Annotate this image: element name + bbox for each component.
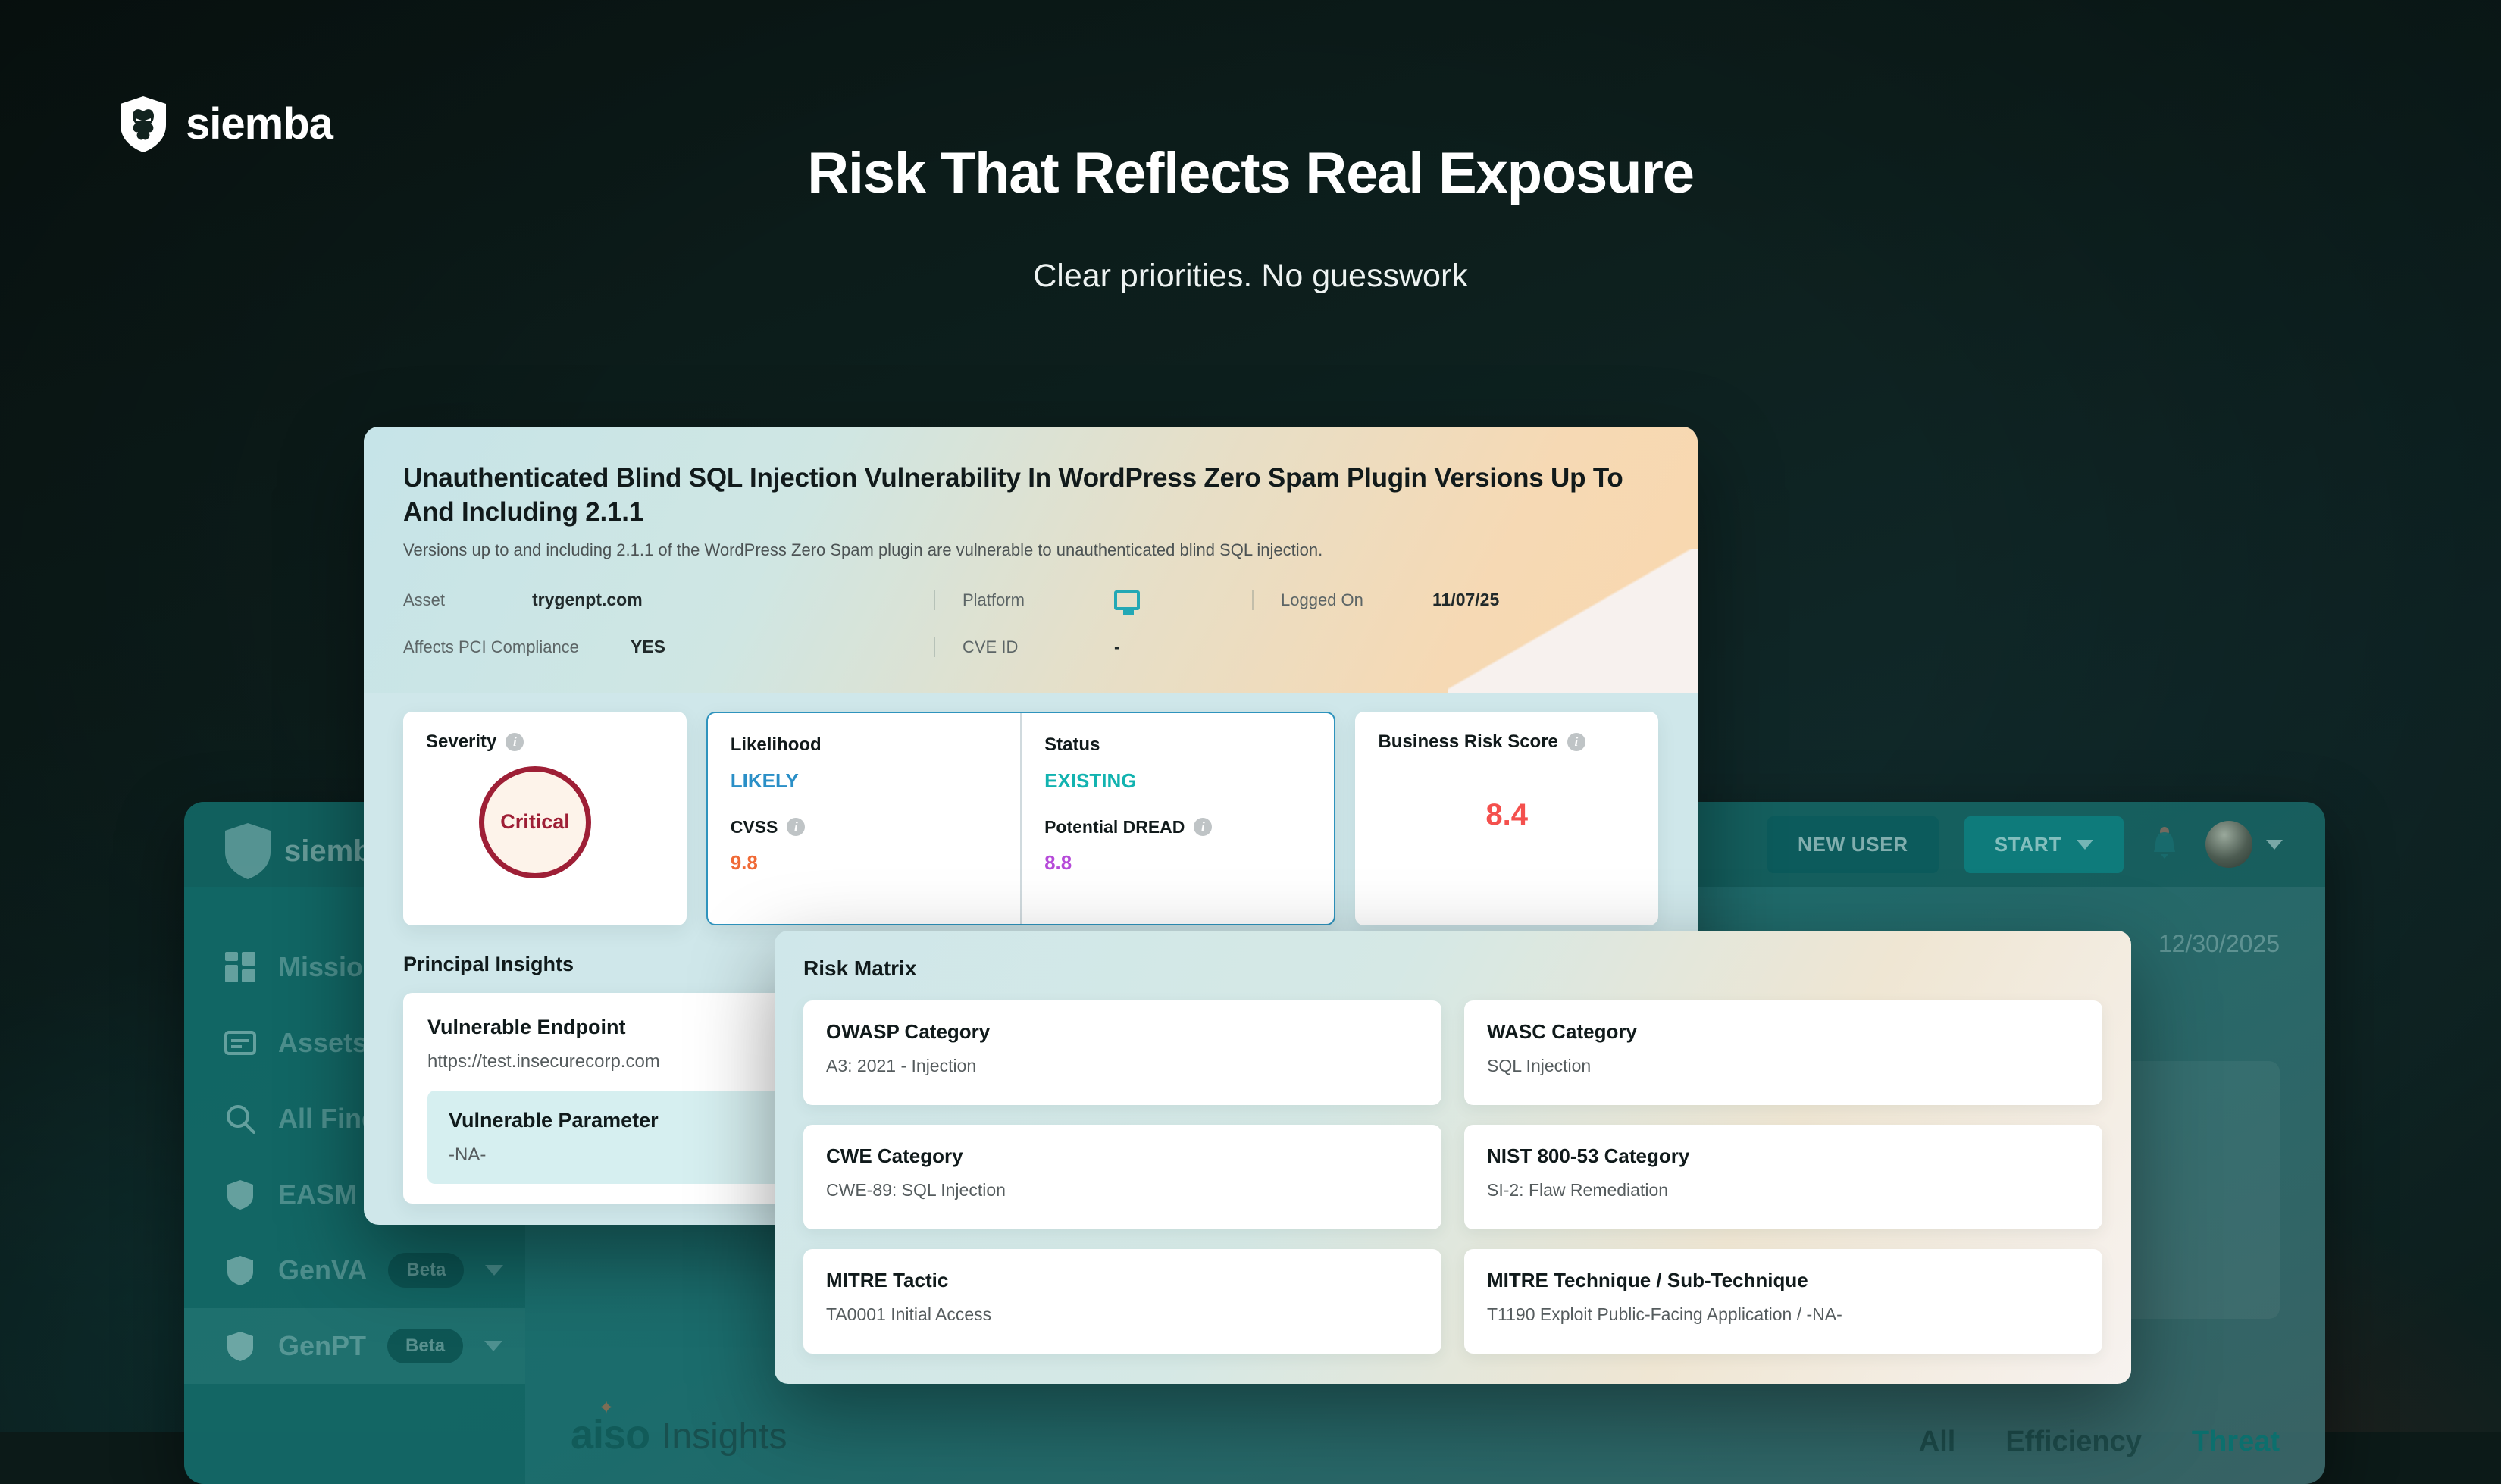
- cvss-label: CVSS: [731, 817, 778, 837]
- severity-label-row: Severity i: [426, 731, 664, 753]
- metrics-row: Severity i Critical Likelihood LIKELY CV…: [364, 712, 1698, 925]
- meta-pci: Affects PCI Compliance YES: [403, 637, 934, 657]
- risk-item-label: MITRE Technique / Sub-Technique: [1487, 1269, 2080, 1292]
- meta-row: Affects PCI Compliance YES CVE ID -: [403, 624, 1658, 671]
- risk-matrix-title: Risk Matrix: [803, 956, 2102, 981]
- sidebar-item-label: GenVA: [278, 1254, 367, 1286]
- likelihood-value: LIKELY: [731, 769, 997, 793]
- sidebar-item-genva[interactable]: GenVA Beta: [184, 1232, 525, 1308]
- sidebar-item-genpt[interactable]: GenPT Beta: [184, 1308, 525, 1384]
- risk-item-value: T1190 Exploit Public-Facing Application …: [1487, 1304, 2080, 1325]
- dread-label-row: Potential DREAD i: [1044, 817, 1311, 837]
- info-icon[interactable]: i: [506, 733, 524, 751]
- vulnerability-meta: Asset trygenpt.com Platform Logged On 11…: [403, 577, 1658, 671]
- risk-matrix-grid: OWASP Category A3: 2021 - Injection WASC…: [803, 1000, 2102, 1354]
- chevron-down-icon: [2077, 840, 2093, 850]
- notification-bell-icon[interactable]: [2149, 826, 2180, 863]
- status-value: EXISTING: [1044, 769, 1311, 793]
- chevron-down-icon[interactable]: [484, 1341, 502, 1351]
- meta-logged-on-value: 11/07/25: [1432, 590, 1499, 610]
- business-risk-value: 8.4: [1378, 798, 1636, 832]
- meta-logged-on-label: Logged On: [1281, 590, 1432, 610]
- meta-pci-value: YES: [631, 637, 665, 657]
- meta-logged-on: Logged On 11/07/25: [1252, 590, 1601, 610]
- new-user-button[interactable]: NEW USER: [1767, 816, 1939, 873]
- beta-badge: Beta: [388, 1253, 464, 1288]
- sparkle-icon: ✦: [598, 1396, 615, 1420]
- avatar: [2205, 821, 2252, 868]
- sidebar-item-label: GenPT: [278, 1330, 366, 1362]
- meta-cve-value: -: [1114, 637, 1120, 657]
- meta-asset-label: Asset: [403, 590, 532, 610]
- meta-asset: Asset trygenpt.com: [403, 590, 934, 610]
- risk-item-wasc: WASC Category SQL Injection: [1464, 1000, 2102, 1105]
- grid-icon: [224, 950, 257, 984]
- risk-item-value: A3: 2021 - Injection: [826, 1056, 1419, 1076]
- risk-item-label: OWASP Category: [826, 1020, 1419, 1044]
- chevron-down-icon: [2266, 840, 2283, 850]
- info-icon[interactable]: i: [1194, 818, 1212, 836]
- dread-value: 8.8: [1044, 851, 1311, 875]
- tab-all[interactable]: All: [1919, 1426, 1956, 1458]
- status-label: Status: [1044, 734, 1311, 756]
- risk-item-label: NIST 800-53 Category: [1487, 1144, 2080, 1168]
- business-risk-card: Business Risk Score i 8.4: [1355, 712, 1658, 925]
- shield-icon: [224, 1178, 257, 1211]
- shield-icon: [224, 1329, 257, 1363]
- likelihood-label: Likelihood: [731, 734, 997, 756]
- cvss-label-row: CVSS i: [731, 817, 997, 837]
- tab-efficiency[interactable]: Efficiency: [2005, 1426, 2142, 1458]
- start-button[interactable]: START: [1964, 816, 2124, 873]
- risk-item-cwe: CWE Category CWE-89: SQL Injection: [803, 1125, 1441, 1229]
- severity-label: Severity: [426, 731, 496, 753]
- meta-platform-label: Platform: [963, 590, 1114, 610]
- status-column: Status EXISTING Potential DREAD i 8.8: [1020, 713, 1334, 924]
- date-range-label: 12/30/2025: [2158, 930, 2280, 958]
- risk-item-mitre-technique: MITRE Technique / Sub-Technique T1190 Ex…: [1464, 1249, 2102, 1354]
- risk-item-value: SQL Injection: [1487, 1056, 2080, 1076]
- info-icon[interactable]: i: [1567, 733, 1585, 751]
- risk-item-label: WASC Category: [1487, 1020, 2080, 1044]
- risk-item-nist: NIST 800-53 Category SI-2: Flaw Remediat…: [1464, 1125, 2102, 1229]
- meta-cve-label: CVE ID: [963, 637, 1114, 657]
- business-risk-label-row: Business Risk Score i: [1378, 731, 1636, 753]
- severity-badge: Critical: [479, 766, 591, 878]
- search-icon: [224, 1102, 257, 1135]
- meta-asset-value: trygenpt.com: [532, 590, 643, 610]
- beta-badge: Beta: [387, 1329, 463, 1363]
- avatar-menu[interactable]: [2205, 821, 2283, 868]
- meta-row: Asset trygenpt.com Platform Logged On 11…: [403, 577, 1658, 624]
- sidebar-item-label: EASM: [278, 1179, 357, 1210]
- aiso-suffix: Insights: [662, 1416, 787, 1457]
- info-icon[interactable]: i: [787, 818, 805, 836]
- meta-cve: CVE ID -: [934, 637, 1252, 657]
- chevron-down-icon[interactable]: [485, 1265, 503, 1276]
- risk-item-value: SI-2: Flaw Remediation: [1487, 1180, 2080, 1201]
- vulnerability-header: Unauthenticated Blind SQL Injection Vuln…: [364, 427, 1698, 693]
- meta-platform: Platform: [934, 590, 1252, 610]
- likelihood-status-card: Likelihood LIKELY CVSS i 9.8 Status EXIS…: [706, 712, 1336, 925]
- vulnerability-description: Versions up to and including 2.1.1 of th…: [403, 540, 1658, 560]
- card-list-icon: [224, 1026, 257, 1060]
- risk-item-value: TA0001 Initial Access: [826, 1304, 1419, 1325]
- vulnerability-title: Unauthenticated Blind SQL Injection Vuln…: [403, 462, 1654, 530]
- risk-item-label: CWE Category: [826, 1144, 1419, 1168]
- meta-pci-label: Affects PCI Compliance: [403, 637, 631, 657]
- shield-icon: [224, 1254, 257, 1287]
- cvss-value: 9.8: [731, 851, 997, 875]
- shield-lion-icon: [222, 822, 274, 881]
- aiso-insights-brand: ✦ aiso Insights: [571, 1411, 787, 1458]
- sidebar-item-label: Assets: [278, 1027, 368, 1059]
- risk-item-owasp: OWASP Category A3: 2021 - Injection: [803, 1000, 1441, 1105]
- dread-label: Potential DREAD: [1044, 817, 1185, 837]
- monitor-icon: [1114, 590, 1140, 610]
- start-button-label: START: [1995, 833, 2061, 856]
- page-subtitle: Clear priorities. No guesswork: [0, 258, 2501, 295]
- severity-card: Severity i Critical: [403, 712, 687, 925]
- business-risk-label: Business Risk Score: [1378, 731, 1557, 753]
- risk-item-value: CWE-89: SQL Injection: [826, 1180, 1419, 1201]
- risk-matrix-card: Risk Matrix OWASP Category A3: 2021 - In…: [775, 931, 2131, 1384]
- risk-item-label: MITRE Tactic: [826, 1269, 1419, 1292]
- risk-item-mitre-tactic: MITRE Tactic TA0001 Initial Access: [803, 1249, 1441, 1354]
- page-title: Risk That Reflects Real Exposure: [0, 140, 2501, 206]
- tab-threat[interactable]: Threat: [2192, 1426, 2280, 1458]
- insight-tabs: All Efficiency Threat: [1919, 1426, 2280, 1458]
- aiso-insights-row: ✦ aiso Insights All Efficiency Threat: [571, 1411, 2280, 1458]
- likelihood-column: Likelihood LIKELY CVSS i 9.8: [708, 713, 1020, 924]
